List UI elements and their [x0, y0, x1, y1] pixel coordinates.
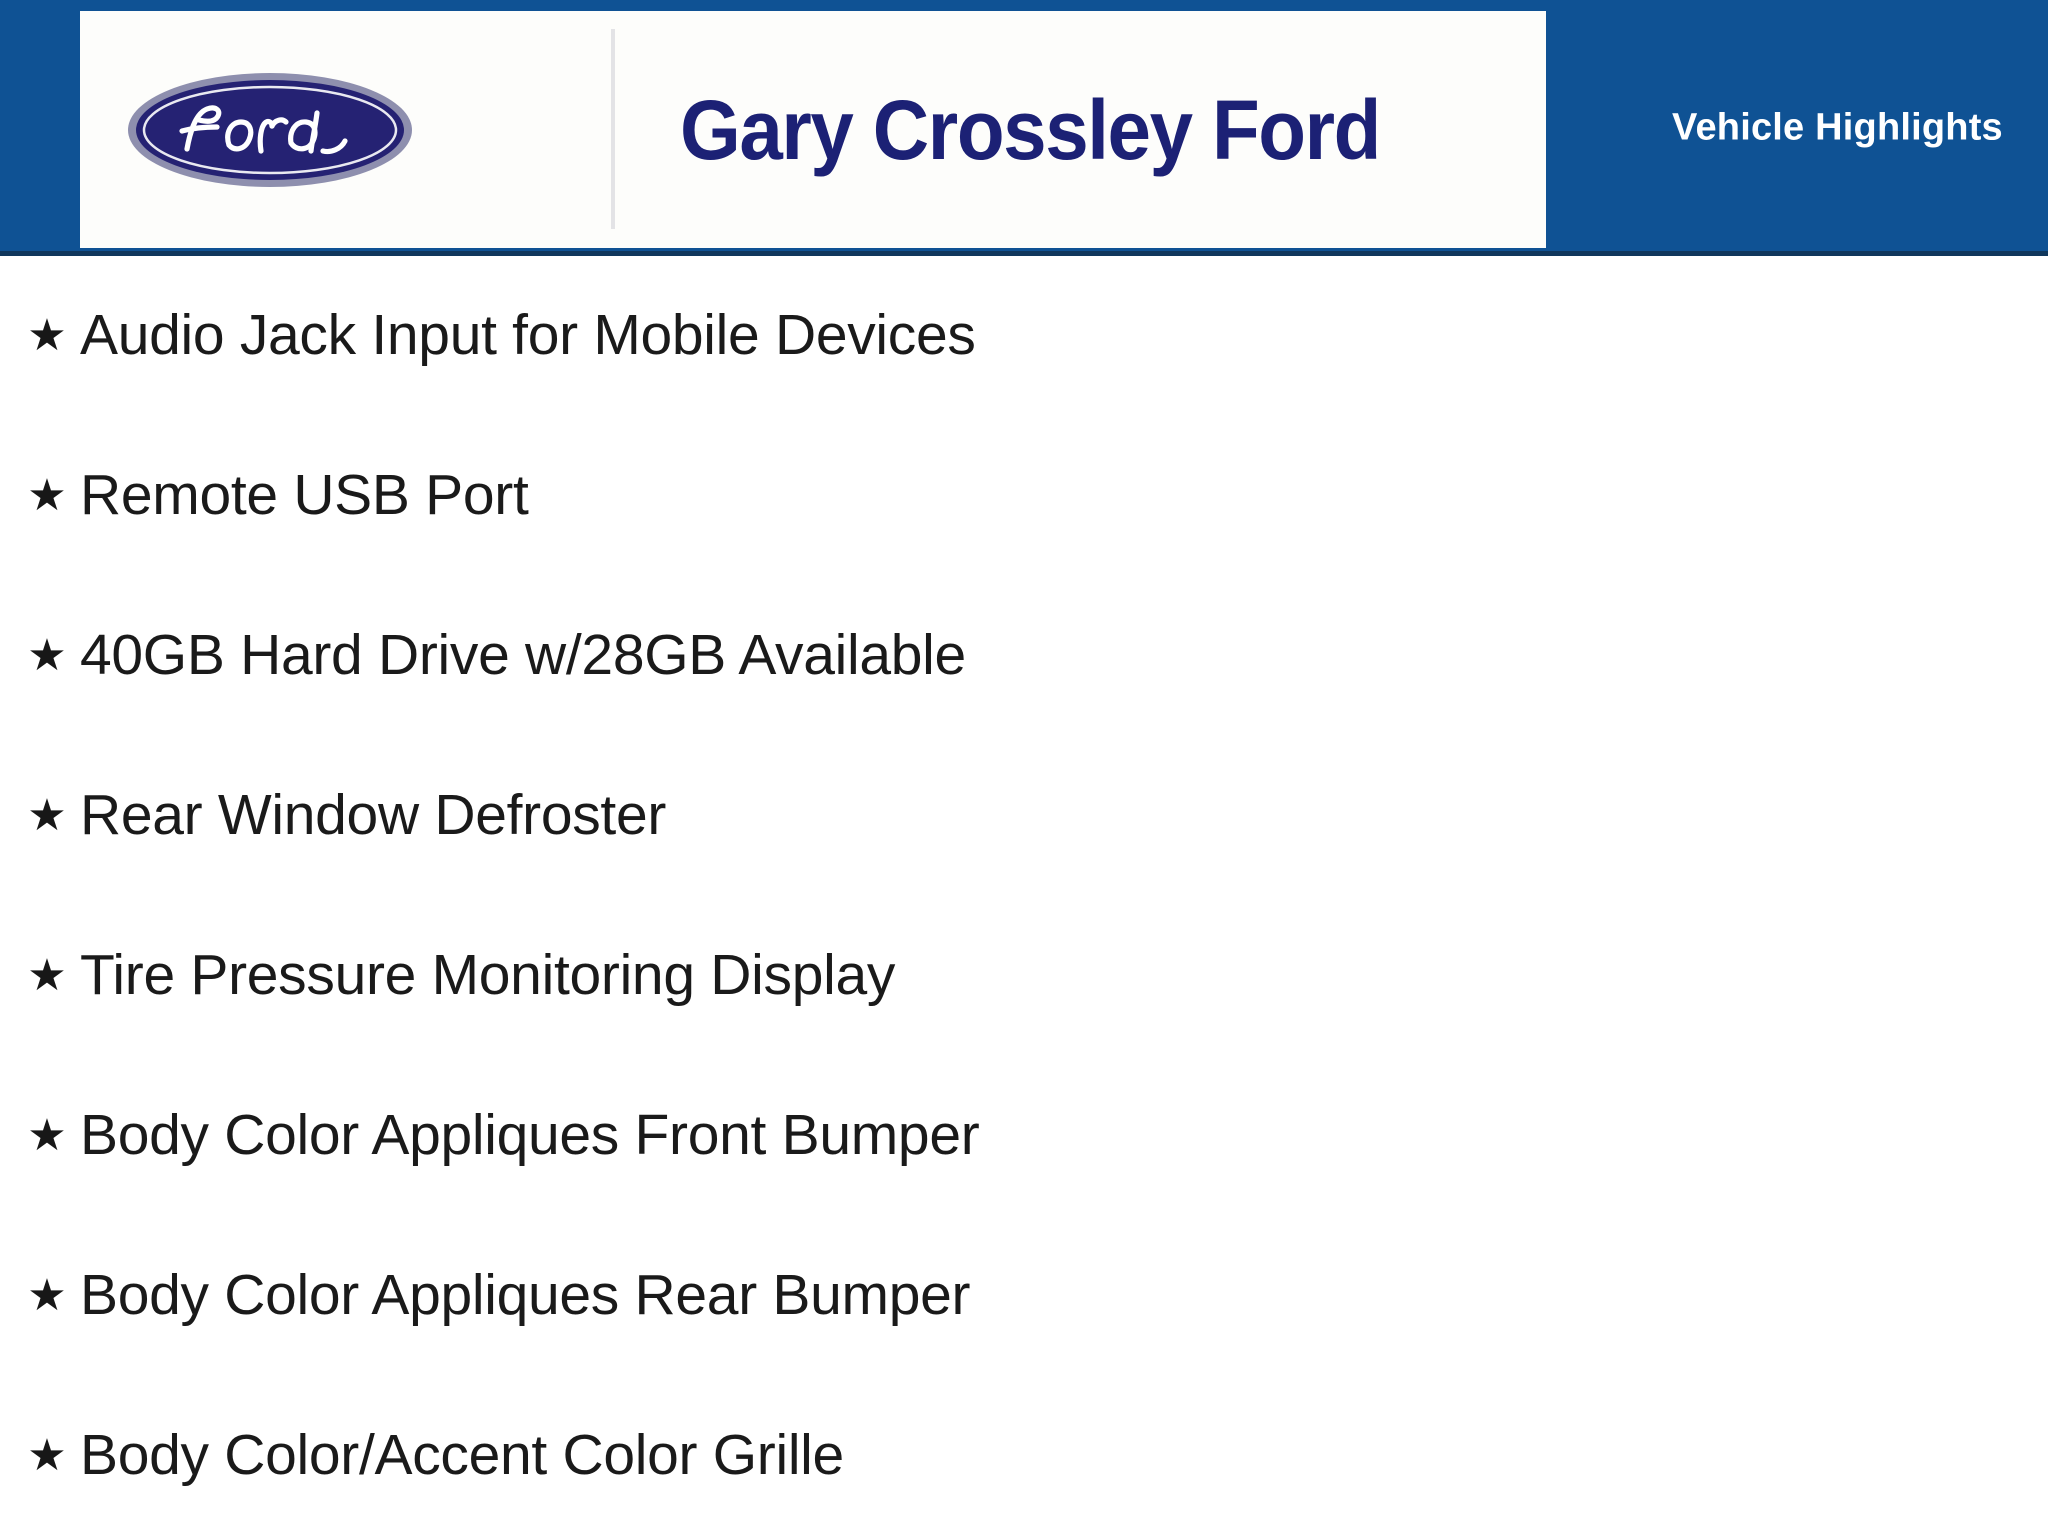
feature-label: Body Color Appliques Front Bumper	[80, 1106, 2048, 1166]
feature-label: Remote USB Port	[80, 466, 2048, 526]
feature-label: Rear Window Defroster	[80, 786, 2048, 846]
dealer-name-text: Gary Crossley Ford	[680, 88, 1380, 172]
star-icon: ★	[14, 954, 80, 998]
star-icon: ★	[14, 1274, 80, 1318]
feature-label: 40GB Hard Drive w/28GB Available	[80, 626, 2048, 686]
ford-oval-icon	[120, 65, 420, 195]
feature-label: Body Color/Accent Color Grille	[80, 1426, 2048, 1486]
vehicle-highlights-header: Gary Crossley Ford Vehicle Highlights	[0, 0, 2048, 256]
list-item: ★ Rear Window Defroster	[0, 736, 2048, 896]
list-item: ★ Body Color/Accent Color Grille	[0, 1376, 2048, 1536]
list-item: ★ Remote USB Port	[0, 416, 2048, 576]
list-item: ★ 40GB Hard Drive w/28GB Available	[0, 576, 2048, 736]
list-item: ★ Tire Pressure Monitoring Display	[0, 896, 2048, 1056]
dealer-name: Gary Crossley Ford	[680, 88, 1433, 172]
star-icon: ★	[14, 314, 80, 358]
star-icon: ★	[14, 794, 80, 838]
vehicle-highlights-list: ★ Audio Jack Input for Mobile Devices ★ …	[0, 256, 2048, 1536]
feature-label: Audio Jack Input for Mobile Devices	[80, 306, 2048, 366]
brand-divider	[611, 29, 615, 229]
list-item: ★ Body Color Appliques Front Bumper	[0, 1056, 2048, 1216]
section-title-vehicle-highlights: Vehicle Highlights	[1672, 107, 2003, 150]
list-item: ★ Body Color Appliques Rear Bumper	[0, 1216, 2048, 1376]
dealer-logo-panel: Gary Crossley Ford	[80, 11, 1546, 248]
star-icon: ★	[14, 634, 80, 678]
star-icon: ★	[14, 474, 80, 518]
feature-label: Body Color Appliques Rear Bumper	[80, 1266, 2048, 1326]
feature-label: Tire Pressure Monitoring Display	[80, 946, 2048, 1006]
list-item: ★ Audio Jack Input for Mobile Devices	[0, 256, 2048, 416]
star-icon: ★	[14, 1114, 80, 1158]
star-icon: ★	[14, 1434, 80, 1478]
